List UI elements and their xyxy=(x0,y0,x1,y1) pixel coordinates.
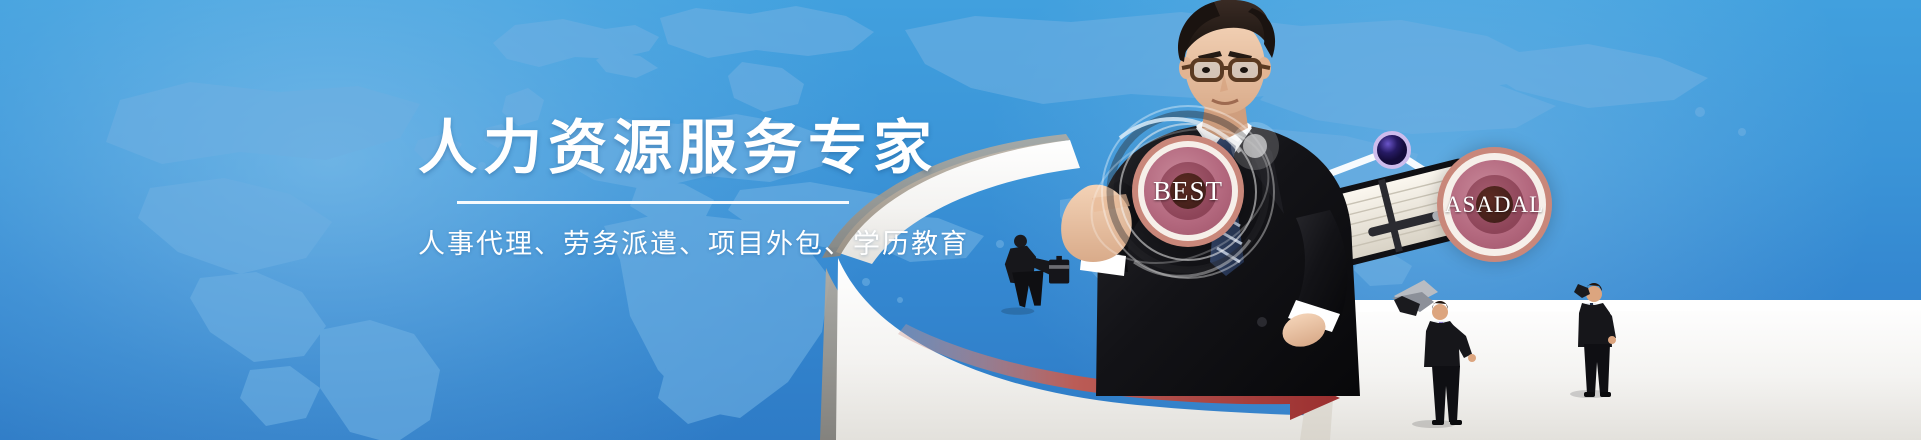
small-figure-looking xyxy=(1570,283,1616,398)
badge-asadal[interactable]: ASADAL xyxy=(1437,147,1552,262)
hero-artwork xyxy=(0,0,1921,440)
page-title: 人力资源服务专家 xyxy=(418,118,888,177)
badge-best[interactable]: BEST xyxy=(1132,135,1244,247)
copy-block: 人力资源服务专家 人事代理、劳务派遣、项目外包、学历教育 xyxy=(418,118,888,261)
badge-best-label: BEST xyxy=(1153,176,1223,207)
small-figure-laptop xyxy=(1392,280,1476,428)
small-figure-briefcase xyxy=(1001,235,1069,315)
world-map-silhouette xyxy=(0,0,1921,440)
hero-banner: 人力资源服务专家 人事代理、劳务派遣、项目外包、学历教育 xyxy=(0,0,1921,440)
white-curved-ribbon xyxy=(820,134,1921,440)
red-curved-arrow xyxy=(898,324,1340,420)
page-subtitle: 人事代理、劳务派遣、项目外包、学历教育 xyxy=(418,222,888,261)
title-divider xyxy=(457,201,849,204)
badge-asadal-label: ASADAL xyxy=(1445,192,1544,218)
background-glow-right xyxy=(981,0,1881,440)
